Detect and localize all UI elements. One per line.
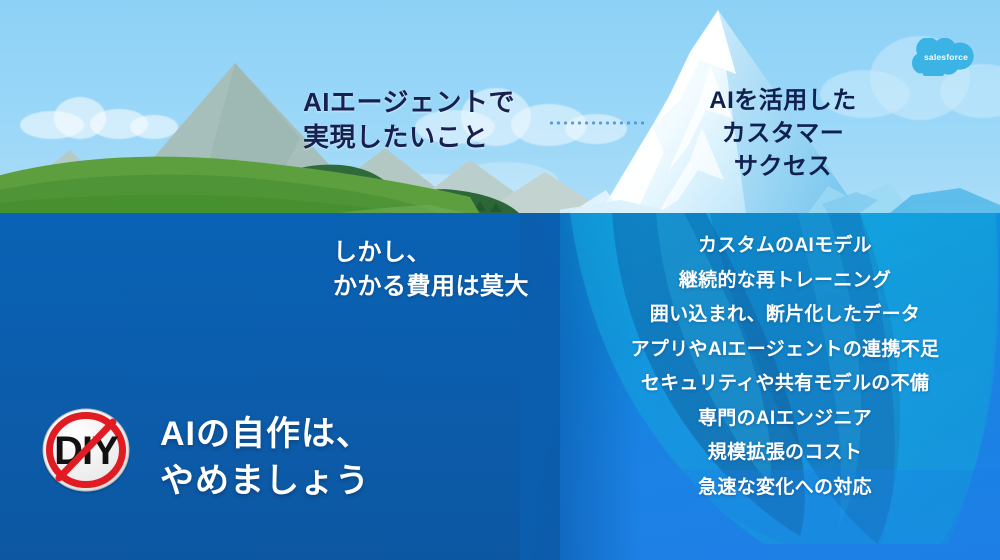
list-item: セキュリティや共有モデルの不備 — [590, 374, 980, 393]
callout-headline-line-2: やめましょう — [160, 458, 371, 505]
right-heading-line-2: カスタマー — [668, 117, 898, 150]
salesforce-cloud-logo-icon: salesforce — [912, 38, 980, 76]
left-heading-line-2: 実現したいこと — [303, 120, 515, 155]
ice-chunk-d — [890, 188, 1000, 213]
list-item: 継続的な再トレーニング — [590, 271, 980, 290]
right-heading-line-1: AIを活用した — [668, 84, 898, 117]
below-left-line-2: かかる費用は莫大 — [333, 270, 529, 304]
list-item: アプリやAIエージェントの連携不足 — [590, 340, 980, 359]
right-heading-line-3: サクセス — [668, 150, 898, 183]
logo-wordmark: salesforce — [924, 52, 968, 62]
callout-headline: AIの自作は、 やめましょう — [160, 411, 371, 505]
list-item: 急速な変化への対応 — [590, 478, 980, 497]
above-water-right-heading: AIを活用した カスタマー サクセス — [668, 84, 898, 183]
list-item: 囲い込まれ、断片化したデータ — [590, 305, 980, 324]
list-item: 専門のAIエンジニア — [590, 409, 980, 428]
above-water-left-heading: AIエージェントで 実現したいこと — [303, 85, 515, 156]
callout-headline-line-1: AIの自作は、 — [160, 411, 371, 458]
below-water-left-heading: しかし、 かかる費用は莫大 — [333, 236, 529, 304]
list-item: カスタムのAIモデル — [590, 236, 980, 255]
no-diy-prohibition-sign-icon: DIY — [35, 404, 137, 496]
dotted-connector-line-icon — [548, 120, 648, 126]
slide-canvas: AIエージェントで 実現したいこと AIを活用した カスタマー サクセス しかし… — [0, 0, 1000, 560]
list-item: 規模拡張のコスト — [590, 443, 980, 462]
hidden-cost-list: カスタムのAIモデル 継続的な再トレーニング 囲い込まれ、断片化したデータ アプ… — [590, 236, 980, 512]
below-left-line-1: しかし、 — [333, 236, 529, 270]
left-heading-line-1: AIエージェントで — [303, 85, 515, 120]
